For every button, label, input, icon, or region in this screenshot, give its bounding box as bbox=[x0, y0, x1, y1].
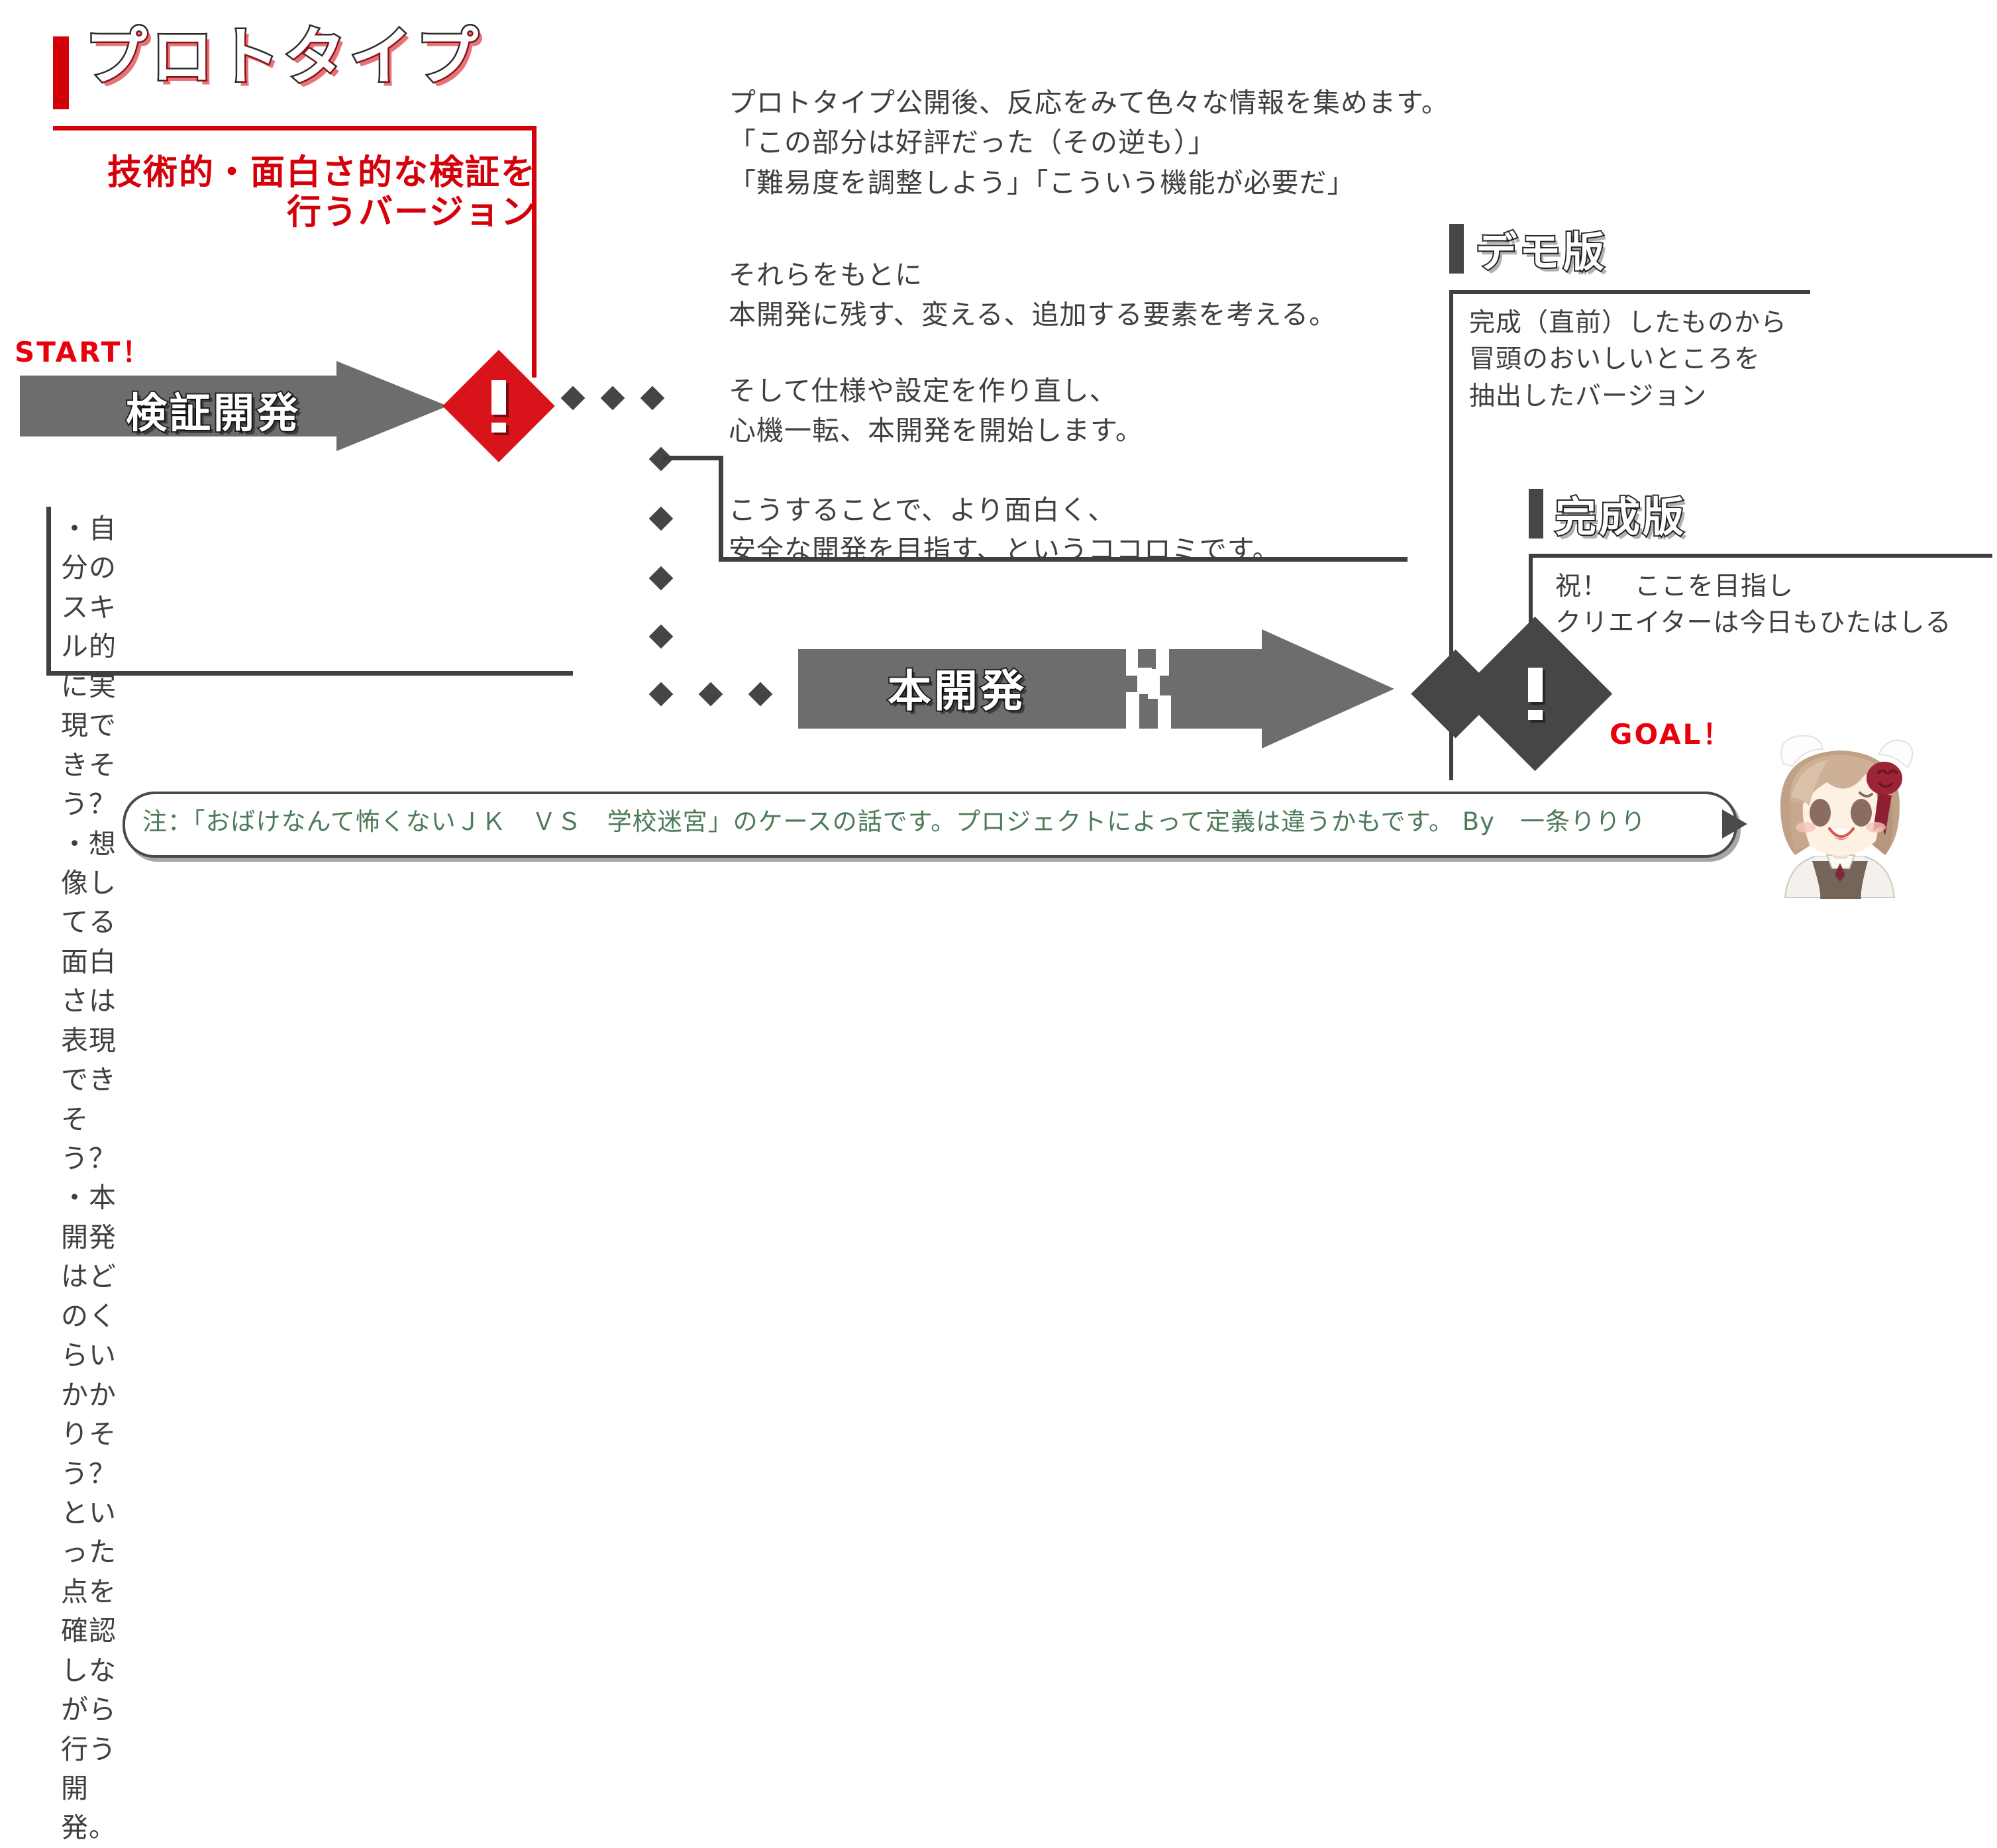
milestone-exclamation-diamond-red bbox=[442, 350, 555, 462]
arrow-body bbox=[798, 649, 1275, 729]
title-underline bbox=[53, 126, 537, 130]
paragraph-conclusion: こうすることで、より面白く、 安全な開発を目指す、というココロミです。 bbox=[729, 490, 1280, 570]
dot-trail-diamond bbox=[649, 625, 674, 649]
dot-trail-diamond bbox=[649, 566, 674, 591]
dot-trail-diamond bbox=[649, 507, 674, 531]
verification-development-arrow: 検証開発 bbox=[20, 361, 444, 450]
final-section-accent-bar bbox=[1529, 489, 1543, 539]
paragraph-restart: そして仕様や設定を作り直し、 心機一転、本開発を開始します。 bbox=[729, 371, 1143, 451]
goal-label: GOAL！ bbox=[1610, 712, 1732, 752]
dot-trail-diamond bbox=[640, 386, 665, 411]
arrow-break-notch bbox=[1126, 692, 1139, 731]
box-left-rule bbox=[46, 507, 51, 676]
arrow-break-notch bbox=[1148, 669, 1160, 699]
main-development-label: 本開発 bbox=[888, 656, 1027, 719]
dot-trail-diamond bbox=[649, 682, 674, 707]
dot-trail-diamond bbox=[748, 682, 773, 707]
arrow-break-notch bbox=[1126, 646, 1138, 676]
demo-section-title: デモ版 bbox=[1476, 219, 1607, 278]
title-accent-bar bbox=[53, 36, 69, 109]
demo-section-text: 完成（直前）したものから 冒頭のおいしいところを 抽出したバージョン bbox=[1469, 305, 1787, 415]
paragraph-bracket-top bbox=[662, 456, 723, 460]
dot-trail-diamond bbox=[561, 386, 586, 411]
footnote-bubble-tail bbox=[1722, 809, 1747, 839]
paragraph-bracket-vertical bbox=[719, 456, 723, 562]
verification-development-label: 検証開発 bbox=[126, 380, 301, 439]
page-title: プロトタイプ bbox=[85, 26, 482, 89]
final-box-top-rule bbox=[1529, 554, 1992, 558]
demo-section-accent-bar bbox=[1449, 224, 1464, 274]
main-development-arrow: 本開発 bbox=[798, 629, 1460, 748]
paragraph-feedback: プロトタイプ公開後、反応をみて色々な情報を集めます。 「この部分は好評だった（そ… bbox=[729, 83, 1449, 203]
dot-trail-diamond bbox=[699, 682, 723, 707]
exclamation-icon bbox=[1480, 639, 1590, 748]
exclamation-icon bbox=[442, 350, 555, 462]
dot-trail-diamond bbox=[601, 386, 625, 411]
arrow-head bbox=[1262, 629, 1394, 748]
final-section-title: 完成版 bbox=[1555, 484, 1686, 543]
footnote-text: 注：「おばけなんて怖くないＪＫ ＶＳ 学校迷宮」のケースの話です。プロジェクトに… bbox=[142, 807, 1719, 837]
verification-notes-text: ・自分のスキル的に実現できそう？ ・想像してる面白さは表現できそう？ ・本開発は… bbox=[61, 509, 117, 1848]
paragraph-planning: それらをもとに 本開発に残す、変える、追加する要素を考える。 bbox=[729, 255, 1337, 335]
demo-box-top-rule bbox=[1449, 290, 1810, 294]
box-bottom-rule bbox=[46, 671, 573, 676]
arrow-head bbox=[336, 361, 448, 451]
chibi-character-illustration bbox=[1749, 732, 1961, 931]
arrow-break-notch bbox=[1158, 695, 1171, 732]
title-subtitle: 技術的・面白さ的な検証を 行うバージョン bbox=[13, 154, 537, 233]
final-section-text: 祝！ ここを目指し クリエイターは今日もひたはしる bbox=[1555, 568, 1951, 642]
